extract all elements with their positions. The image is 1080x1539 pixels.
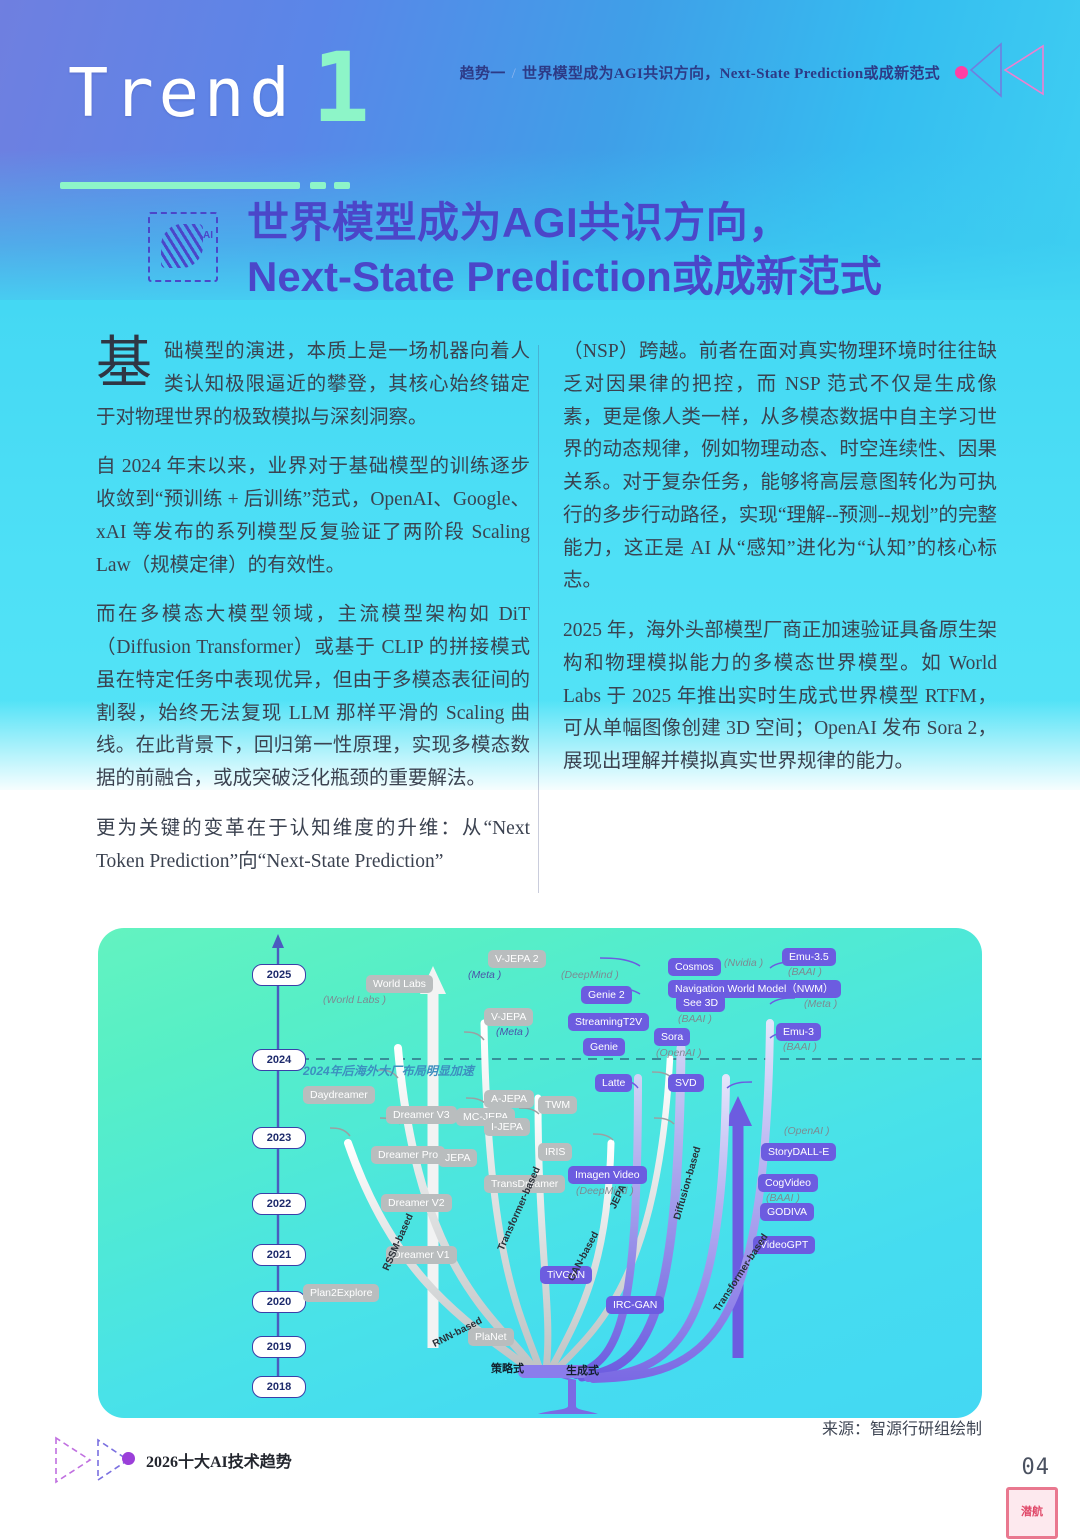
node-irc-gan: IRC-GAN <box>606 1296 664 1314</box>
org-cogvideo: (BAAI ) <box>766 1192 800 1204</box>
node-svd: SVD <box>668 1074 704 1092</box>
node-sora: Sora <box>654 1028 690 1046</box>
node-cogvideo: CogVideo <box>758 1174 818 1192</box>
node-twm: TWM <box>538 1096 577 1114</box>
trend-number: 1 <box>312 40 370 136</box>
node-godiva: GODIVA <box>760 1203 814 1221</box>
footer-dot-icon <box>122 1452 135 1465</box>
ai-badge-glyph <box>161 224 203 268</box>
breadcrumb: 趋势一/世界模型成为AGI共识方向，Next-State Prediction或… <box>460 62 940 83</box>
node-streamingt2v: StreamingT2V <box>568 1013 649 1031</box>
org-sora: (OpenAI ) <box>656 1047 702 1059</box>
node-cosmos: Cosmos <box>668 958 721 976</box>
trend-underline-dash-2 <box>334 182 350 189</box>
trend-logotype: Trend 1 <box>60 48 480 163</box>
node-world-labs: World Labs <box>366 975 433 993</box>
column-divider <box>538 345 539 893</box>
org-storydall-e: (OpenAI ) <box>784 1125 830 1137</box>
ai-badge-label: AI <box>203 230 213 241</box>
node-genie: Genie <box>583 1038 625 1056</box>
org-emu-3: (BAAI ) <box>783 1041 817 1053</box>
paragraph-5: （NSP）跨越。前者在面对真实物理环境时往往缺乏对因果律的把控，而 NSP 范式… <box>563 336 997 598</box>
page-title: 世界模型成为AGI共识方向， Next-State Prediction或成新范… <box>247 196 967 304</box>
evolution-tree-diagram: 2025 2024 2023 2022 2021 2020 2019 2018 … <box>98 928 982 1418</box>
year-pill-2018: 2018 <box>252 1376 306 1398</box>
node-v-jepa-2: V-JEPA 2 <box>488 950 546 968</box>
source-caption: 来源：智源行研组绘制 <box>822 1415 982 1439</box>
page-title-line-1: 世界模型成为AGI共识方向， <box>247 196 967 250</box>
node-dreamer-v3: Dreamer V3 <box>386 1106 457 1124</box>
org-world-labs: (World Labs ) <box>323 994 386 1006</box>
footer-brand: 2026十大AI技术趋势 <box>146 1448 292 1472</box>
node-i-jepa: I-JEPA <box>484 1118 530 1136</box>
year-pill-2024: 2024 <box>252 1049 306 1071</box>
trunk-label-generative: 生成式 <box>566 1362 599 1378</box>
page-title-line-2: Next-State Prediction或成新范式 <box>247 250 967 304</box>
trend-underline <box>60 182 300 189</box>
node-imagen-video: Imagen Video <box>568 1166 647 1184</box>
node-dreamer-pro: Dreamer Pro <box>371 1146 445 1164</box>
year-pill-2021: 2021 <box>252 1244 306 1266</box>
year-pill-2022: 2022 <box>252 1193 306 1215</box>
breadcrumb-separator: / <box>506 66 522 82</box>
year-pill-2023: 2023 <box>252 1127 306 1149</box>
breadcrumb-triangle-icon <box>965 40 1045 100</box>
org-emu-35: (BAAI ) <box>788 966 822 978</box>
org-nwm: (Meta ) <box>804 998 837 1010</box>
node-v-jepa: V-JEPA <box>484 1008 533 1026</box>
node-storydall-e: StoryDALL-E <box>761 1143 836 1161</box>
trend-underline-dash-1 <box>310 182 326 189</box>
ai-badge-icon: AI <box>148 212 218 282</box>
trunk-label-policy: 策略式 <box>491 1360 524 1376</box>
paragraph-6: 2025 年，海外头部模型厂商正加速验证具备原生架构和物理模拟能力的多模态世界模… <box>563 615 997 779</box>
article-column-left: 基础模型的演进，本质上是一场机器向着人类认知极限逼近的攀登，其核心始终锚定于对物… <box>96 336 530 895</box>
breadcrumb-title: 世界模型成为AGI共识方向，Next-State Prediction或成新范式 <box>522 66 940 82</box>
org-v-jepa-2: (Meta ) <box>468 969 501 981</box>
watermark-stamp: 潜航 <box>1006 1487 1058 1539</box>
org-genie-2: (DeepMind ) <box>561 969 619 981</box>
node-genie-2: Genie 2 <box>581 986 632 1004</box>
drop-cap: 基 <box>96 336 164 391</box>
year-pill-2025: 2025 <box>252 964 306 986</box>
node-jepa: JEPA <box>438 1149 477 1167</box>
node-iris: IRIS <box>538 1143 572 1161</box>
breadcrumb-section: 趋势一 <box>460 66 506 82</box>
year-pill-2019: 2019 <box>252 1336 306 1358</box>
paragraph-2: 自 2024 年末以来，业界对于基础模型的训练逐步收敛到“预训练 + 后训练”范… <box>96 451 530 582</box>
node-emu-3: Emu-3 <box>776 1023 821 1041</box>
page-number: 04 <box>1022 1455 1051 1480</box>
node-a-jepa: A-JEPA <box>484 1090 534 1108</box>
node-latte: Latte <box>595 1074 632 1092</box>
paragraph-4: 更为关键的变革在于认知维度的升维：从“Next Token Prediction… <box>96 813 530 879</box>
node-planet: PlaNet <box>468 1328 514 1346</box>
org-cosmos: (Nvidia ) <box>724 957 763 969</box>
article-column-right: （NSP）跨越。前者在面对真实物理环境时往往缺乏对因果律的把控，而 NSP 范式… <box>563 336 997 796</box>
paragraph-1: 基础模型的演进，本质上是一场机器向着人类认知极限逼近的攀登，其核心始终锚定于对物… <box>96 336 530 434</box>
node-nwm: Navigation World Model（NWM） <box>668 980 841 998</box>
node-emu-35: Emu-3.5 <box>782 948 836 966</box>
dashed-line-annotation: 2024年后海外大厂布局明显加速 <box>303 1062 474 1079</box>
org-v-jepa: (Meta ) <box>496 1026 529 1038</box>
paragraph-3: 而在多模态大模型领域，主流模型架构如 DiT（Diffusion Transfo… <box>96 599 530 796</box>
trend-word: Trend <box>68 54 295 132</box>
year-pill-2020: 2020 <box>252 1291 306 1313</box>
node-plan2explore: Plan2Explore <box>303 1284 379 1302</box>
org-see-3d: (BAAI ) <box>678 1013 712 1025</box>
node-daydreamer: Daydreamer <box>303 1086 375 1104</box>
node-dreamer-v2: Dreamer V2 <box>381 1194 452 1212</box>
